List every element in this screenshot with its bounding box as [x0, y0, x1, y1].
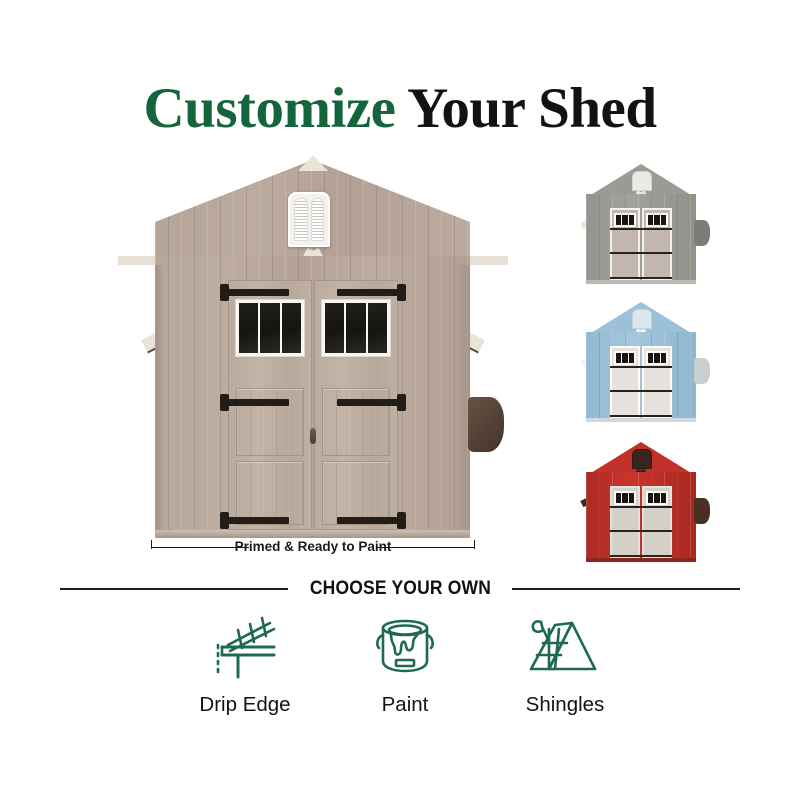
strap-hinge-icon [223, 399, 289, 406]
feature-label: Shingles [526, 693, 605, 717]
variant-side-hardware [694, 498, 710, 524]
divider-line-right [512, 588, 740, 590]
window-pane [239, 303, 258, 353]
variant-gable-vent [632, 171, 652, 191]
variant-base-trim [586, 558, 696, 562]
feature-drip-edge[interactable]: Drip Edge [170, 612, 320, 732]
color-variant-list [556, 160, 726, 570]
variant-door-right [642, 486, 672, 558]
feature-shingles[interactable]: Shingles [490, 612, 640, 732]
variant-doors[interactable] [610, 486, 672, 558]
variant-door-left [610, 486, 640, 558]
variant-base-trim [586, 418, 696, 422]
vent-louver-right [311, 198, 325, 241]
window-pane [346, 303, 365, 353]
shingles-icon [525, 612, 605, 684]
variant-door-window [614, 351, 636, 365]
title-word-customize: Customize [143, 77, 395, 140]
variant-hinge-icon [610, 530, 672, 532]
section-heading: CHOOSE YOUR OWN [309, 578, 490, 600]
variant-hinge-icon [610, 506, 672, 508]
variant-hinge-icon [610, 415, 672, 417]
side-hardware-bracket [468, 397, 504, 452]
shed-door-right[interactable] [314, 280, 398, 530]
title-words-your-shed: Your Shed [407, 77, 656, 140]
shed-customization-graphic: Customize Your Shed [0, 0, 800, 800]
feature-label: Drip Edge [199, 693, 290, 717]
strap-hinge-icon [223, 289, 289, 296]
choose-your-own-divider: CHOOSE YOUR OWN [60, 578, 740, 600]
variant-side-hardware [694, 220, 710, 246]
variant-hinge-icon [610, 390, 672, 392]
strap-hinge-icon [337, 517, 403, 524]
variant-shed-gray[interactable] [556, 160, 726, 288]
hero-caption: Primed & Ready to Paint [118, 536, 508, 558]
window-pane [368, 303, 387, 353]
divider-line-left [60, 588, 288, 590]
shed-door-left[interactable] [228, 280, 312, 530]
variant-door-left [610, 346, 640, 418]
eave-left [118, 256, 158, 265]
variant-hinge-icon [610, 228, 672, 230]
shed-double-doors [228, 280, 398, 530]
hero-caption-text: Primed & Ready to Paint [118, 536, 508, 558]
variant-shed-blue[interactable] [556, 298, 726, 426]
variant-door-window [646, 491, 668, 505]
feature-paint[interactable]: Paint [330, 612, 480, 732]
variant-door-window [614, 491, 636, 505]
variant-doors[interactable] [610, 208, 672, 280]
variant-hinge-icon [610, 366, 672, 368]
variant-doors[interactable] [610, 346, 672, 418]
window-pane [325, 303, 344, 353]
roof-ridge-cap [298, 155, 328, 171]
variant-door-window [646, 213, 668, 227]
gable-louver-vent [288, 192, 330, 247]
door-window-right [321, 299, 391, 357]
door-window-left [235, 299, 305, 357]
variant-hinge-icon [610, 252, 672, 254]
feature-icon-row: Drip Edge Paint [170, 612, 640, 732]
wall-shadow-left [155, 265, 164, 537]
door-handle-icon[interactable] [310, 428, 316, 444]
vent-louver-left [294, 198, 308, 241]
variant-base-trim [586, 280, 696, 284]
hero-shed-image [118, 152, 508, 552]
variant-hinge-icon [610, 555, 672, 557]
door-panel-bottom [236, 461, 304, 525]
window-pane [260, 303, 279, 353]
variant-door-left [610, 208, 640, 280]
variant-door-window [614, 213, 636, 227]
variant-gable-vent [632, 449, 652, 469]
variant-hinge-icon [610, 277, 672, 279]
strap-hinge-icon [337, 399, 403, 406]
variant-shed-red[interactable] [556, 438, 726, 566]
variant-door-right [642, 208, 672, 280]
variant-door-window [646, 351, 668, 365]
door-panel-bottom [322, 461, 390, 525]
paint-can-icon [370, 612, 440, 684]
eave-right [468, 256, 508, 265]
variant-gable-vent [632, 309, 652, 329]
window-pane [282, 303, 301, 353]
variant-side-hardware [694, 358, 710, 384]
drip-edge-icon [208, 612, 282, 684]
variant-door-right [642, 346, 672, 418]
page-title: Customize Your Shed [0, 78, 800, 140]
strap-hinge-icon [223, 517, 289, 524]
strap-hinge-icon [337, 289, 403, 296]
feature-label: Paint [382, 693, 429, 717]
